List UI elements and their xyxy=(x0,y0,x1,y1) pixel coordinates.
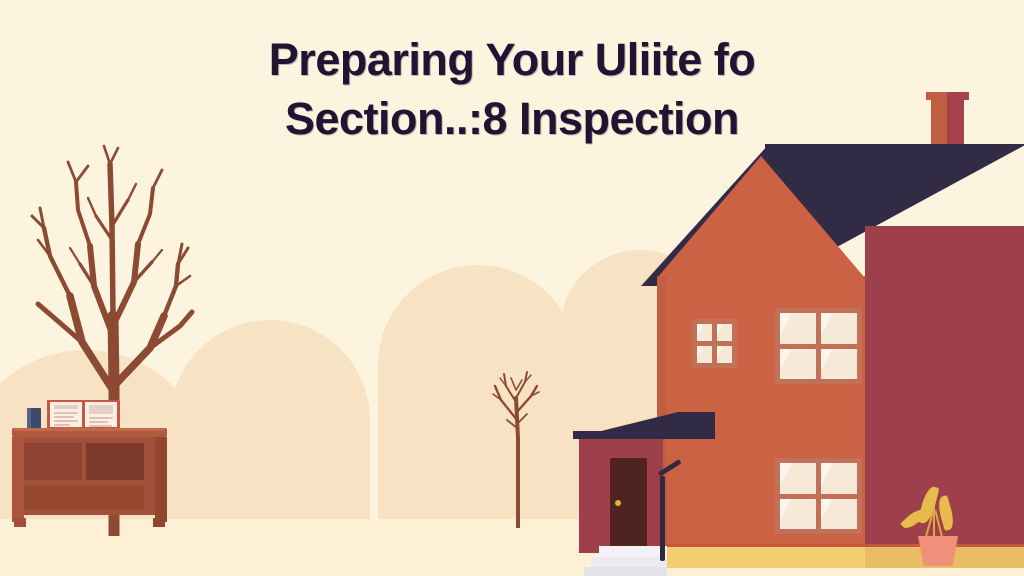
desk-with-books xyxy=(12,428,167,528)
plant-pot xyxy=(918,536,958,566)
desk-foot-left xyxy=(14,518,26,527)
page-title: Preparing Your Uliite fo Section..:8 Ins… xyxy=(0,30,1024,149)
window-pane xyxy=(717,346,732,363)
potted-plant xyxy=(904,486,966,564)
window-pane-grid xyxy=(780,463,857,529)
entry-step xyxy=(591,557,667,567)
desk-lower-panel xyxy=(24,486,144,510)
house-foundation-edge xyxy=(657,544,1024,547)
navy-book-spine xyxy=(27,408,31,429)
window-pane xyxy=(780,313,816,344)
window-pane xyxy=(821,463,857,494)
window-pane xyxy=(780,349,816,380)
house xyxy=(579,76,1024,576)
desk-shelf-left xyxy=(24,443,82,480)
illustration-canvas: Preparing Your Uliite fo Section..:8 Ins… xyxy=(0,0,1024,576)
window-pane xyxy=(780,463,816,494)
book-page-left xyxy=(50,402,82,427)
house-gable-wall xyxy=(657,156,865,278)
window-upper-small xyxy=(692,319,737,368)
desk-foot-right xyxy=(153,518,165,527)
handrail-post xyxy=(660,476,665,561)
entry-step xyxy=(584,567,667,576)
window-pane xyxy=(697,324,712,341)
book-page-right xyxy=(85,402,117,427)
window-pane xyxy=(821,349,857,380)
desk-top-highlight xyxy=(14,428,165,431)
window-pane xyxy=(780,499,816,530)
porch-awning-edge xyxy=(573,431,715,439)
window-pane-grid xyxy=(697,324,732,363)
tree-slim-middle xyxy=(473,328,563,528)
desk-side-right xyxy=(155,437,167,522)
window-pane-grid xyxy=(780,313,857,379)
door-knob-icon[interactable] xyxy=(615,500,621,506)
window-upper-large xyxy=(775,308,862,384)
desk-side-left xyxy=(12,437,24,522)
window-pane xyxy=(697,346,712,363)
entry-step xyxy=(599,546,667,557)
open-book xyxy=(47,400,120,429)
window-pane xyxy=(821,313,857,344)
window-lower-large xyxy=(775,458,862,534)
title-line-1: Preparing Your Uliite fo xyxy=(90,30,934,89)
window-pane xyxy=(717,324,732,341)
window-pane xyxy=(821,499,857,530)
desk-shelf-right xyxy=(86,443,144,480)
title-line-2: Section..:8 Inspection xyxy=(90,89,934,148)
